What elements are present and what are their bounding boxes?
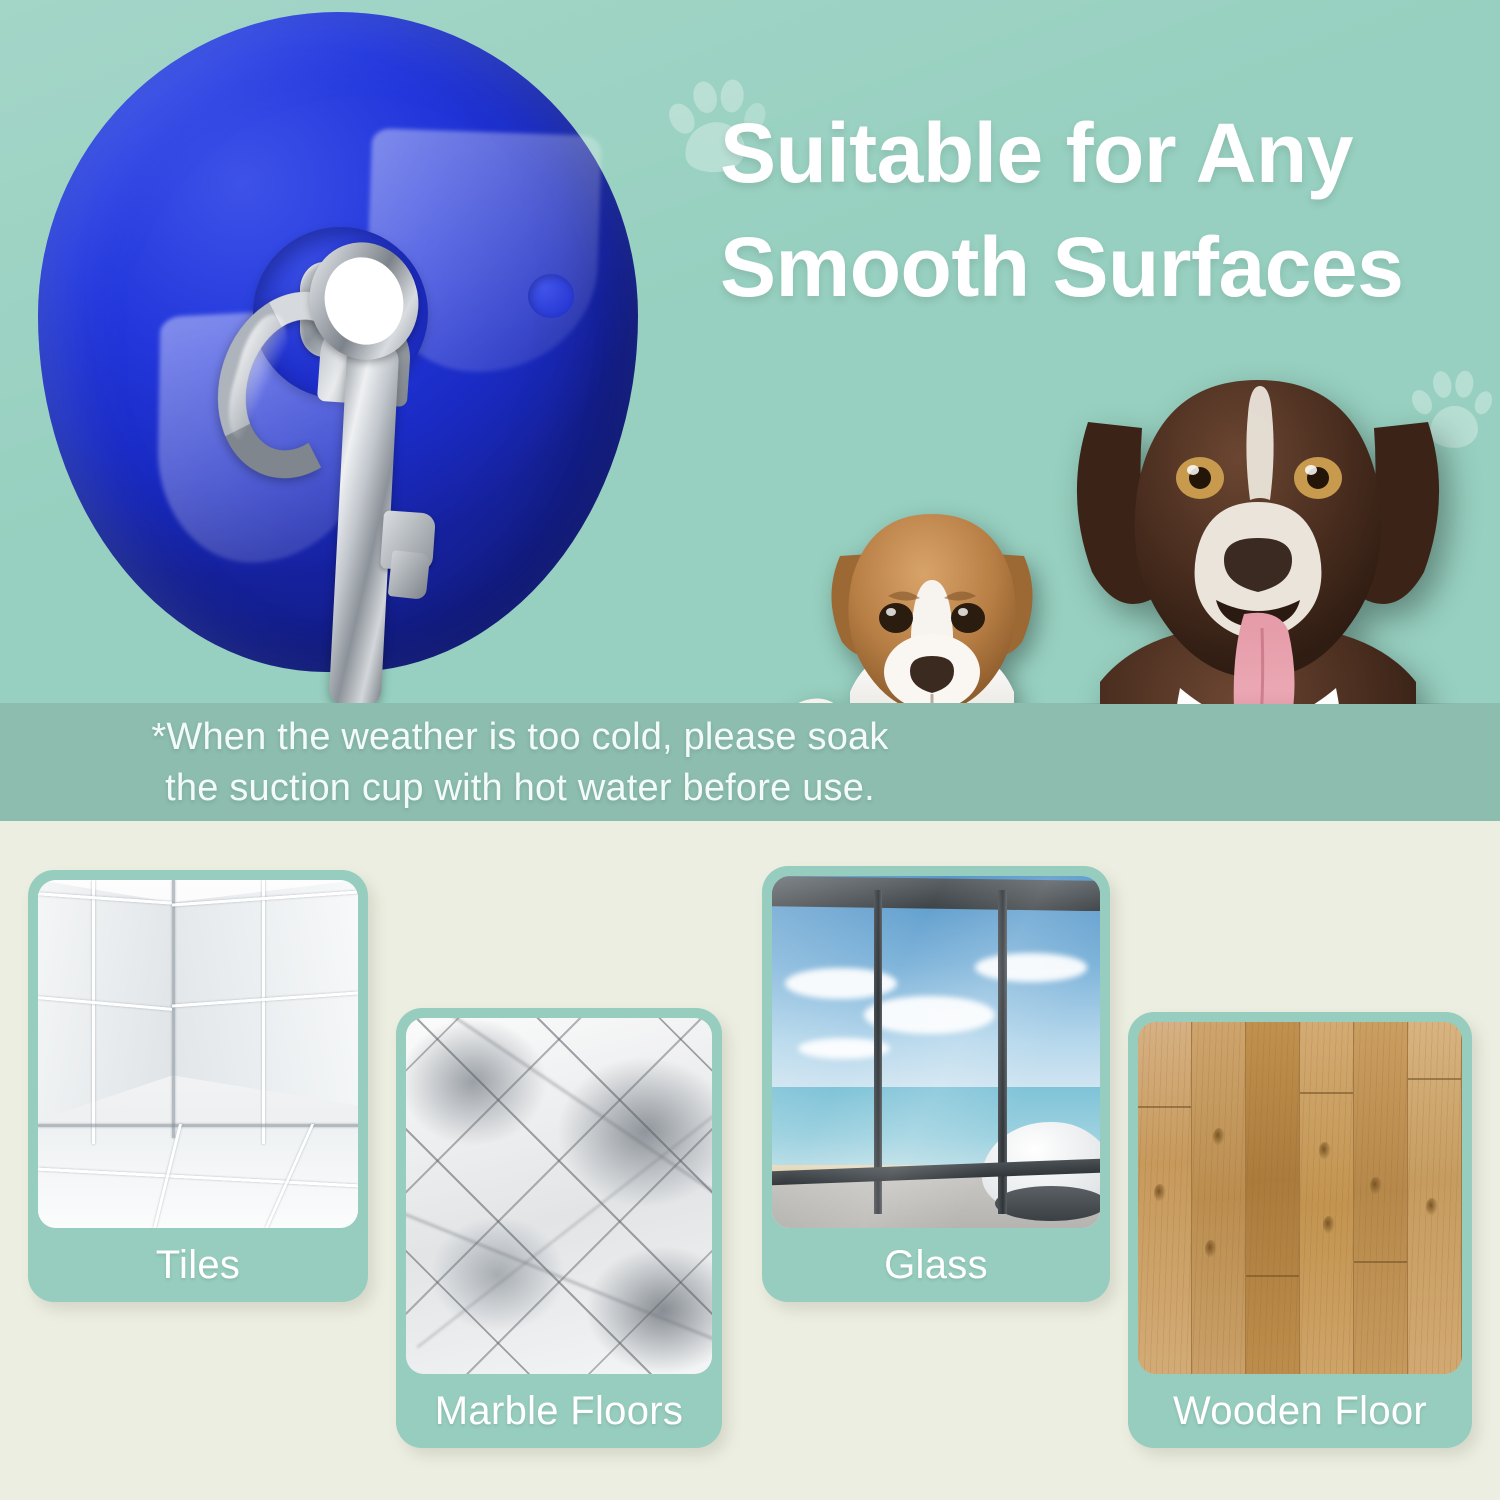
- wood-plank: [1408, 1022, 1462, 1374]
- tile-grout-line: [92, 880, 95, 1144]
- cloud: [864, 996, 995, 1035]
- wood-knot: [1213, 1128, 1225, 1146]
- wood-knot: [1370, 1177, 1382, 1195]
- tile-grout-line: [262, 880, 265, 1144]
- wood-plank: [1300, 1022, 1354, 1374]
- note-line-1: *When the weather is too cold, please so…: [151, 716, 888, 758]
- tile-corner-line: [172, 880, 175, 1138]
- plank-seam: [1300, 1092, 1353, 1094]
- note-text: *When the weather is too cold, please so…: [0, 712, 1040, 816]
- suction-cup-tab: [528, 274, 574, 318]
- tiles-thumbnail: [38, 880, 358, 1228]
- wood-plank: [1138, 1022, 1192, 1374]
- plank-seam: [1354, 1261, 1407, 1263]
- surface-card-wood[interactable]: Wooden Floor: [1128, 1012, 1472, 1448]
- promo-image: Suitable for Any Smooth Surfaces: [0, 0, 1500, 1500]
- sofa-base: [995, 1186, 1100, 1221]
- surface-card-label: Marble Floors: [406, 1374, 712, 1448]
- wood-plank: [1192, 1022, 1246, 1374]
- product-photo-suction-cup: [38, 12, 658, 692]
- plank-seam: [1246, 1275, 1299, 1277]
- cloud: [975, 953, 1087, 981]
- wood-knot: [1319, 1142, 1331, 1160]
- wood-knot: [1323, 1216, 1335, 1234]
- wood-image: [1138, 1022, 1462, 1374]
- wood-plank: [1246, 1022, 1300, 1374]
- marble-image: [406, 1018, 712, 1374]
- surface-card-label: Glass: [772, 1228, 1100, 1302]
- surface-card-label: Wooden Floor: [1138, 1374, 1462, 1448]
- headline-line-2: Smooth Surfaces: [720, 210, 1482, 324]
- note-line-2: the suction cup with hot water before us…: [0, 763, 1040, 814]
- wood-knot: [1205, 1240, 1217, 1258]
- marble-vein: [406, 1207, 712, 1359]
- plank-seam: [1138, 1106, 1191, 1108]
- surface-card-glass[interactable]: Glass: [762, 866, 1110, 1302]
- marble-vein: [417, 1102, 712, 1348]
- door-frame-top: [772, 876, 1100, 911]
- dog-photo-pointer-mix: [1048, 352, 1468, 704]
- surface-card-label: Tiles: [38, 1228, 358, 1302]
- glass-image: [772, 876, 1100, 1228]
- wood-knot: [1154, 1184, 1166, 1202]
- surface-card-tiles[interactable]: Tiles: [28, 870, 368, 1302]
- tiles-image: [38, 880, 358, 1228]
- surface-card-marble[interactable]: Marble Floors: [396, 1008, 722, 1448]
- clip-gate-latch: [388, 550, 431, 600]
- glass-thumbnail: [772, 876, 1100, 1228]
- plank-seam: [1408, 1078, 1461, 1080]
- hero-section: Suitable for Any Smooth Surfaces: [0, 0, 1500, 704]
- headline-line-1: Suitable for Any: [720, 106, 1353, 200]
- ring-inner: [314, 248, 413, 354]
- wood-plank: [1354, 1022, 1408, 1374]
- wood-knot: [1426, 1198, 1438, 1216]
- marble-vein: [409, 1018, 712, 1210]
- marble-thumbnail: [406, 1018, 712, 1374]
- wood-thumbnail: [1138, 1022, 1462, 1374]
- door-mullion: [874, 890, 883, 1214]
- headline: Suitable for Any Smooth Surfaces: [720, 96, 1482, 324]
- dog-photo-jack-russell: [792, 460, 1072, 704]
